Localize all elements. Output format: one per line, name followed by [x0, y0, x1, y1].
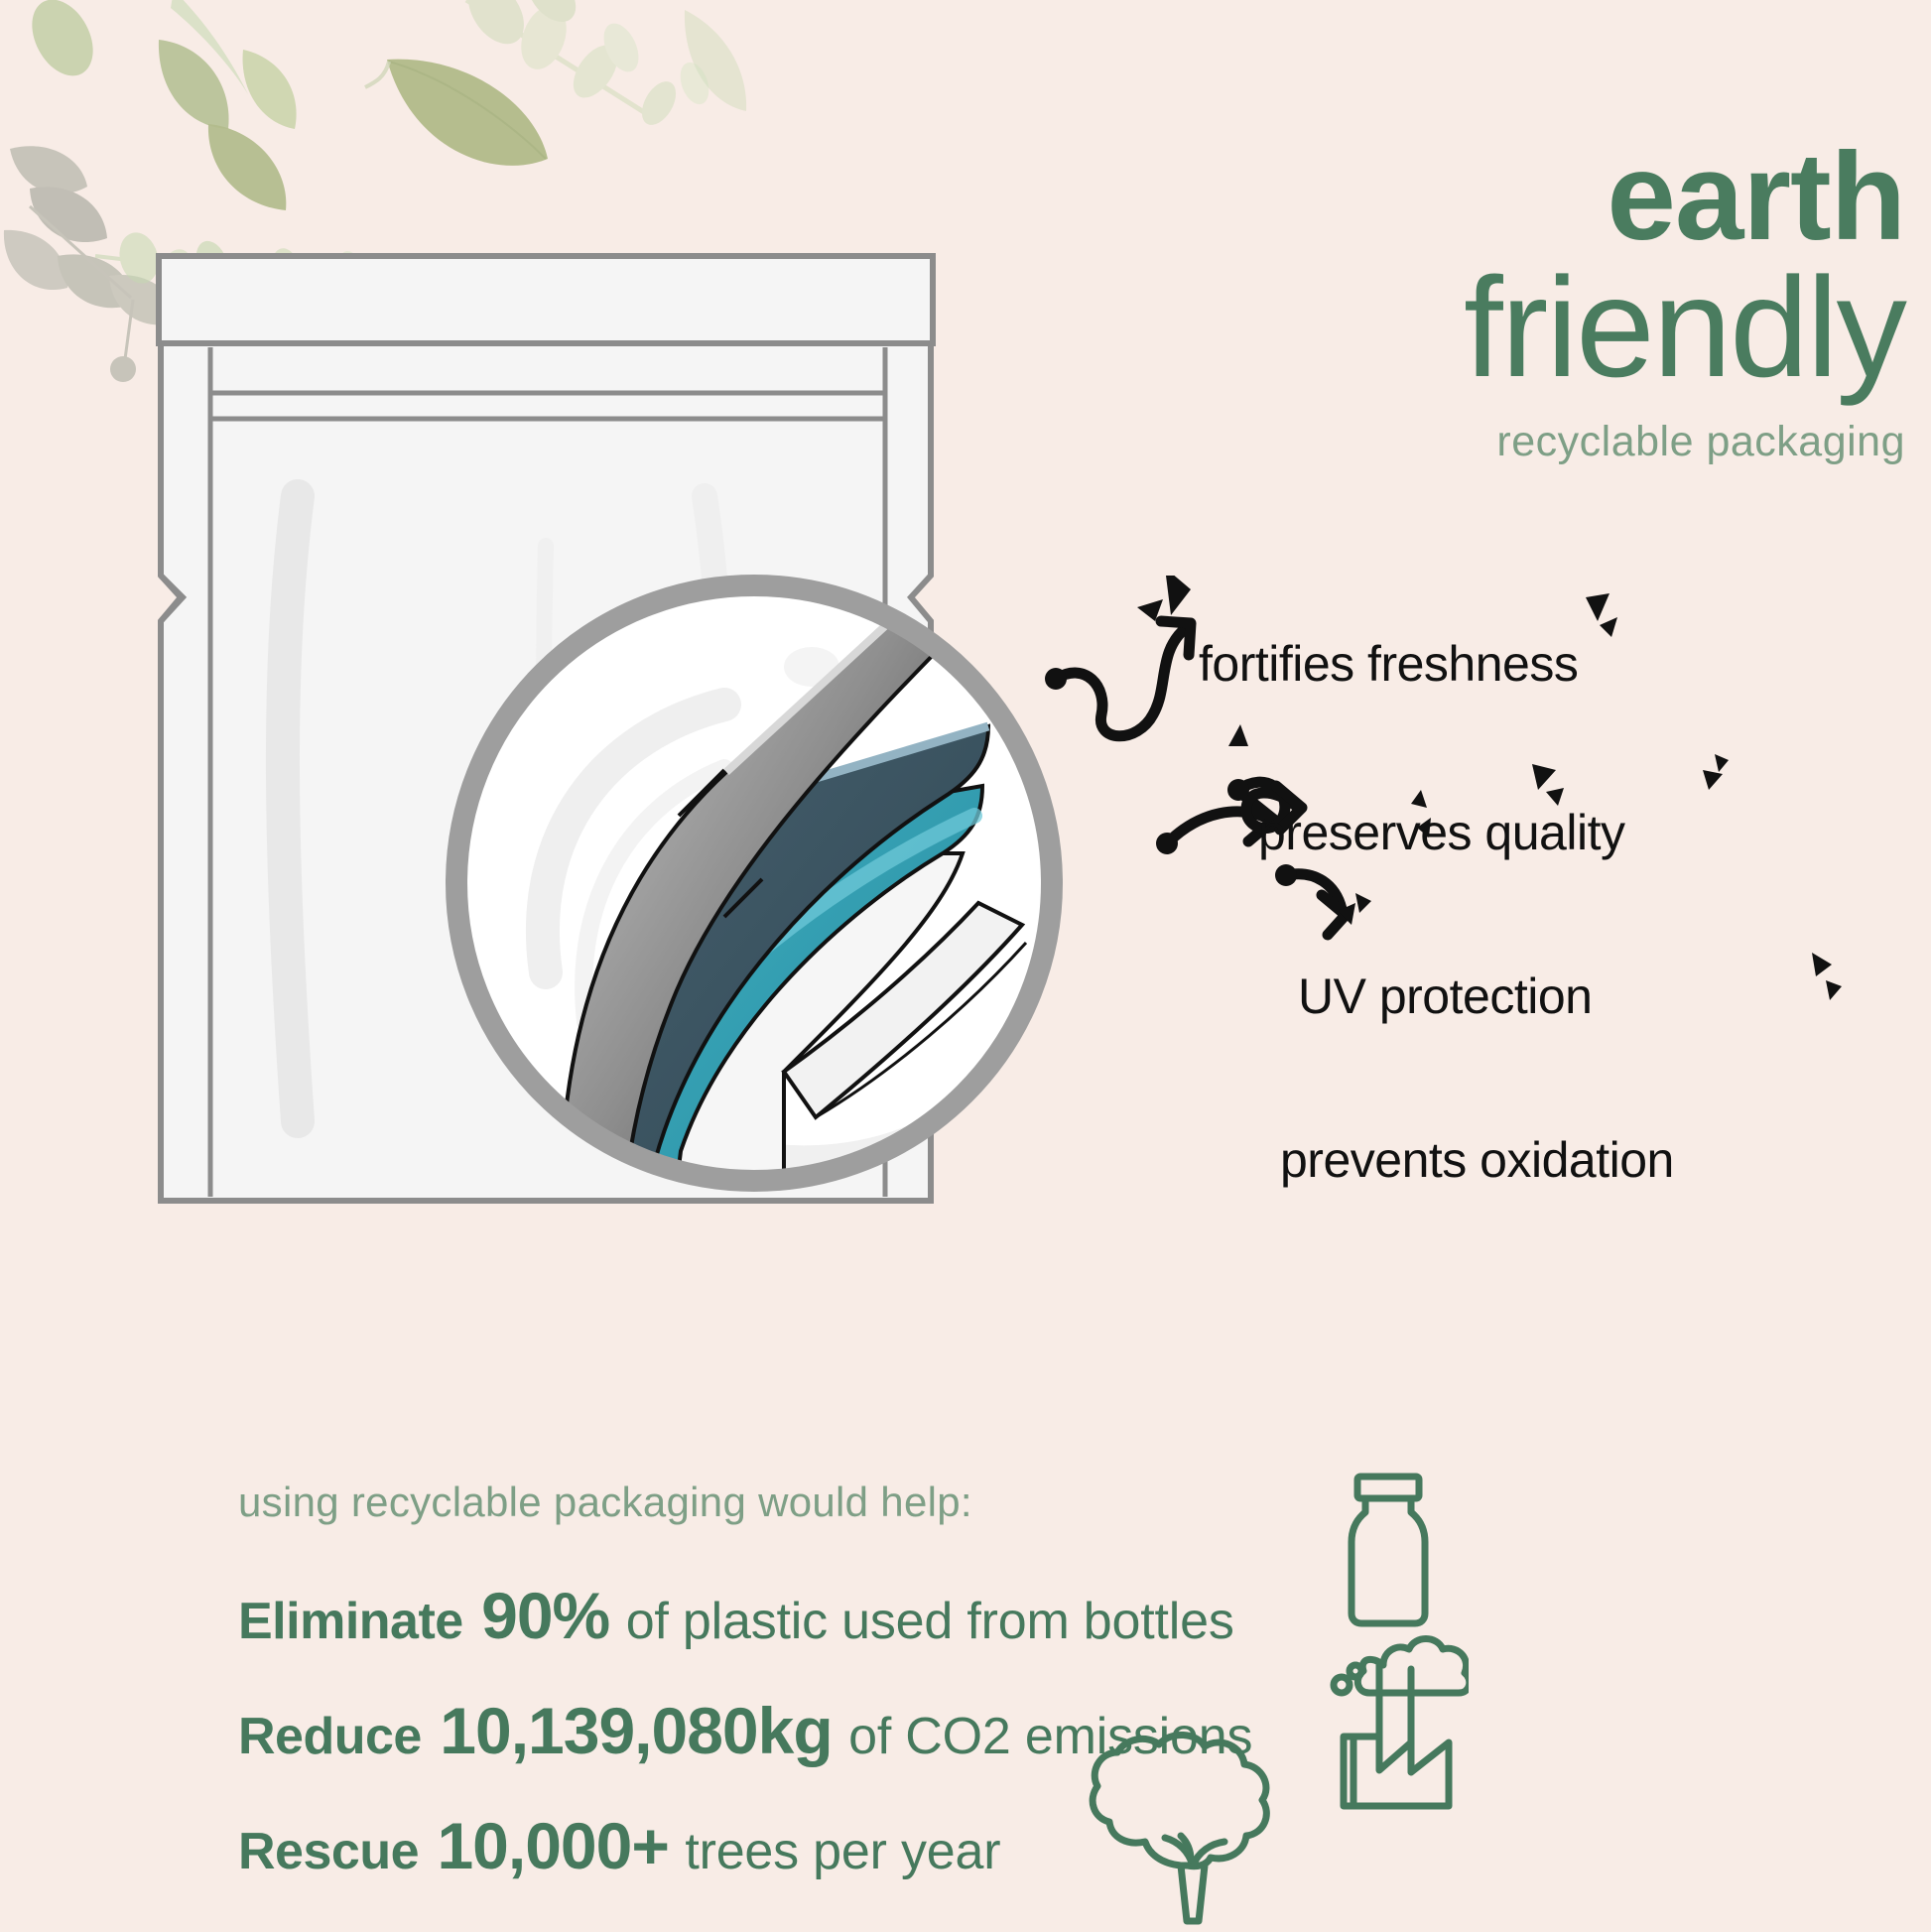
feature-label-prevents-oxidation: prevents oxidation [1280, 1131, 1674, 1189]
headline-line-2: friendly [1141, 260, 1905, 396]
stat-tail: of plastic used from bottles [626, 1593, 1234, 1650]
stat-tail: of CO2 emissions [848, 1708, 1252, 1765]
stat-value: 90% [481, 1579, 609, 1652]
stat-verb: Eliminate [238, 1593, 463, 1650]
headline-subtitle: recyclable packaging [1141, 418, 1905, 466]
feature-label-fortifies-freshness: fortifies freshness [1199, 635, 1578, 693]
feature-label-uv-protection: UV protection [1298, 967, 1592, 1025]
stat-row-trees: Rescue 10,000+ trees per year [238, 1808, 1647, 1883]
curved-arrow-icon [1156, 796, 1274, 854]
stat-tail: trees per year [685, 1823, 1000, 1880]
headline-line-1: earth [1141, 139, 1905, 256]
stats-intro-text: using recyclable packaging would help: [238, 1479, 1647, 1526]
hook-arrow-icon [1275, 864, 1346, 935]
magnified-cross-section [427, 556, 1082, 1211]
stat-verb: Rescue [238, 1823, 419, 1880]
headline-block: earth friendly recyclable packaging [1141, 139, 1905, 466]
infographic-canvas: earth friendly recyclable packaging [0, 0, 1931, 1932]
feature-label-preserves-quality: preserves quality [1258, 804, 1624, 861]
stat-verb: Reduce [238, 1708, 422, 1765]
stats-block: using recyclable packaging would help: E… [238, 1479, 1647, 1923]
stat-row-bottles: Eliminate 90% of plastic used from bottl… [238, 1578, 1647, 1653]
stat-value: 10,139,080kg [440, 1694, 832, 1767]
stat-row-co2: Reduce 10,139,080kg of CO2 emissions [238, 1693, 1647, 1768]
stat-value: 10,000+ [437, 1809, 668, 1882]
